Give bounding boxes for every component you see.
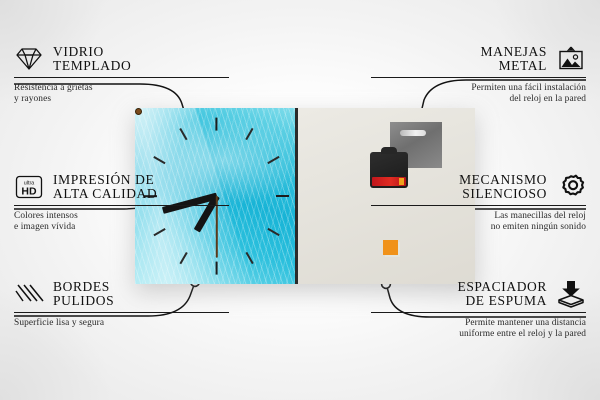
feature-description: Superficie lisa y segura [14, 318, 229, 329]
foam-spacer-arrow-icon [556, 279, 586, 309]
feature-mecanismo-silencioso: MECANISMO SILENCIOSO Las manecillas del … [371, 172, 586, 234]
feature-divider [371, 205, 586, 206]
feature-title: MANEJAS METAL [481, 45, 547, 74]
feature-title: VIDRIO TEMPLADO [53, 45, 131, 74]
foam-spacer [383, 240, 398, 255]
infographic-canvas: VIDRIO TEMPLADO Resistencia a grietas y … [0, 0, 600, 400]
ultra-hd-icon: ultra HD [14, 172, 44, 202]
feature-espaciador-espuma: ESPACIADOR DE ESPUMA Permite mantener un… [371, 279, 586, 341]
polished-edges-icon [14, 279, 44, 309]
clock-tick [153, 156, 165, 164]
hanger-slot [400, 130, 426, 136]
feature-description: Resistencia a grietas y rayones [14, 83, 229, 106]
feature-vidrio-templado: VIDRIO TEMPLADO Resistencia a grietas y … [14, 44, 229, 106]
feature-divider [14, 312, 229, 313]
feature-bordes-pulidos: BORDES PULIDOS Superficie lisa y segura [14, 279, 229, 329]
clock-tick [179, 252, 187, 264]
feature-header: MANEJAS METAL [371, 44, 586, 74]
feature-divider [14, 77, 229, 78]
feature-title: IMPRESIÓN DE ALTA CALIDAD [53, 173, 157, 202]
feature-header: ESPACIADOR DE ESPUMA [371, 279, 586, 309]
feature-title: BORDES PULIDOS [53, 280, 114, 309]
clock-tick [245, 127, 253, 139]
feature-description: Permiten una fácil instalación del reloj… [371, 83, 586, 106]
clock-center-hub [135, 108, 142, 115]
feature-description: Las manecillas del reloj no emiten ningú… [371, 211, 586, 234]
picture-frame-hanger-icon [556, 44, 586, 74]
feature-divider [371, 77, 586, 78]
feature-divider [14, 205, 229, 206]
feature-header: ultra HD IMPRESIÓN DE ALTA CALIDAD [14, 172, 229, 202]
clock-tick [267, 228, 279, 236]
feature-header: MECANISMO SILENCIOSO [371, 172, 586, 202]
feature-title: MECANISMO SILENCIOSO [459, 173, 547, 202]
mechanism-hook-tab [381, 147, 397, 154]
svg-text:HD: HD [21, 186, 37, 198]
clock-tick [179, 127, 187, 139]
gear-icon [556, 172, 586, 202]
feature-impresion-alta-calidad: ultra HD IMPRESIÓN DE ALTA CALIDAD Color… [14, 172, 229, 234]
diamond-icon [14, 44, 44, 74]
clock-tick [215, 117, 217, 130]
feature-description: Permite mantener una distancia uniforme … [371, 318, 586, 341]
clock-tick [245, 252, 253, 264]
feature-header: BORDES PULIDOS [14, 279, 229, 309]
feature-manejas-metal: MANEJAS METAL Permiten una fácil instala… [371, 44, 586, 106]
feature-title: ESPACIADOR DE ESPUMA [457, 280, 547, 309]
feature-description: Colores intensos e imagen vívida [14, 211, 229, 234]
clock-tick [276, 195, 289, 197]
clock-tick [215, 261, 217, 274]
clock-tick [267, 156, 279, 164]
feature-header: VIDRIO TEMPLADO [14, 44, 229, 74]
feature-divider [371, 312, 586, 313]
